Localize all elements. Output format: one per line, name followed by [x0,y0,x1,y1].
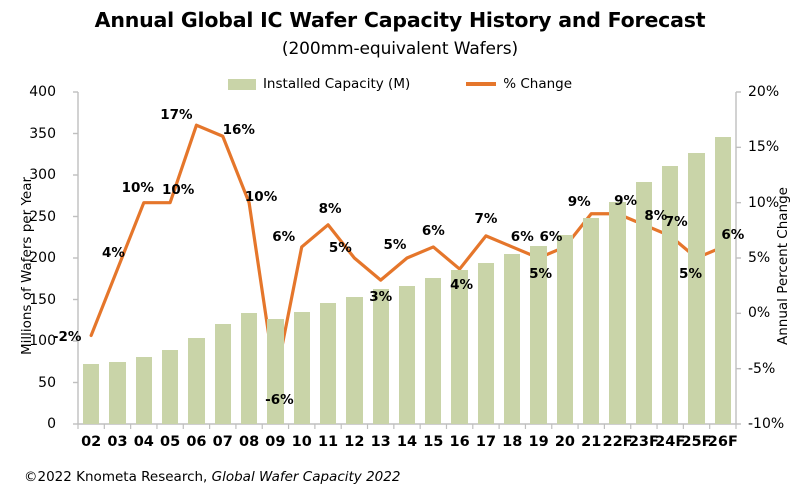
x-tick-13: 13 [371,434,391,450]
chart-subtitle: (200mm-equivalent Wafers) [0,39,800,59]
bar-22F [609,202,625,424]
y-tick-left-250: 250 [10,209,56,225]
x-tick-12: 12 [344,434,364,450]
bar-26F [715,137,731,424]
y-tick-left-200: 200 [10,250,56,266]
plot-area: -2%4%10%10%17%16%10%-6%6%8%5%3%5%6%4%7%6… [78,92,736,424]
bar-21 [583,218,599,424]
y-tick-left-0: 0 [10,416,56,432]
y-axis-right-ticks: -10%-5%0%5%10%15%20% [738,0,800,496]
bar-09 [267,319,283,424]
footer-publication: Global Wafer Capacity 2022 [212,469,401,485]
data-label-21: 9% [568,194,591,210]
x-tick-11: 11 [318,434,338,450]
bar-17 [478,263,494,424]
data-label-18: 6% [511,229,534,245]
footer-credit: ©2022 Knometa Research, Global Wafer Cap… [24,469,400,485]
y-tick-left-300: 300 [10,167,56,183]
data-label-20: 6% [539,229,562,245]
bar-06 [188,338,204,424]
x-tick-16: 16 [450,434,470,450]
bar-10 [294,312,310,424]
bar-16 [451,270,467,424]
data-label-12: 5% [329,240,352,256]
data-label-13: 3% [369,289,392,305]
data-label-02: -2% [53,329,82,345]
bar-14 [399,286,415,424]
bar-swatch-icon [228,79,256,90]
x-tick-15: 15 [423,434,443,450]
y-tick-left-50: 50 [10,375,56,391]
data-label-19: 5% [529,266,552,282]
footer-copyright: ©2022 Knometa Research, [24,469,212,485]
x-tick-05: 05 [160,434,180,450]
y-tick-right-5%: 5% [748,250,800,266]
x-tick-19: 19 [529,434,549,450]
data-label-06: 17% [160,107,192,123]
legend-label-percent-change: % Change [503,76,572,92]
x-tick-14: 14 [397,434,417,450]
y-tick-left-400: 400 [10,84,56,100]
bar-04 [136,357,152,424]
data-label-09: -6% [265,392,294,408]
y-tick-right-0%: 0% [748,305,800,321]
data-label-04: 10% [122,180,154,196]
y-tick-right--10%: -10% [748,416,800,432]
data-label-08: 10% [245,189,277,205]
x-tick-17: 17 [476,434,496,450]
chart-container: Annual Global IC Wafer Capacity History … [0,0,800,496]
bar-11 [320,303,336,424]
y-tick-left-350: 350 [10,126,56,142]
x-tick-20: 20 [555,434,575,450]
legend-label-installed-capacity: Installed Capacity (M) [263,76,410,92]
bar-15 [425,278,441,424]
y-tick-right-20%: 20% [748,84,800,100]
legend-item-installed-capacity: Installed Capacity (M) [228,76,410,92]
data-label-10: 6% [272,229,295,245]
bar-03 [109,362,125,424]
bar-12 [346,297,362,424]
data-label-14: 5% [384,237,407,253]
y-tick-right-15%: 15% [748,139,800,155]
data-label-15: 6% [422,223,445,239]
data-label-16: 4% [450,277,473,293]
legend-item-percent-change: % Change [466,76,572,92]
y-axis-left-ticks: 050100150200250300350400 [0,0,68,496]
data-label-24F: 7% [665,214,688,230]
y-tick-right--5%: -5% [748,361,800,377]
y-tick-left-150: 150 [10,292,56,308]
x-tick-09: 09 [265,434,285,450]
bar-20 [557,235,573,424]
data-label-25F: 5% [679,266,702,282]
bar-13 [373,289,389,424]
x-tick-21: 21 [581,434,601,450]
bar-02 [83,364,99,424]
data-label-11: 8% [319,201,342,217]
data-label-07: 16% [223,122,255,138]
data-label-05: 10% [162,182,194,198]
x-tick-03: 03 [107,434,127,450]
bar-18 [504,254,520,424]
chart-title: Annual Global IC Wafer Capacity History … [0,8,800,32]
data-label-22F: 9% [614,193,637,209]
x-tick-08: 08 [239,434,259,450]
bar-25F [688,153,704,424]
x-tick-07: 07 [213,434,233,450]
bar-24F [662,166,678,424]
data-label-03: 4% [102,245,125,261]
x-tick-26F: 26F [708,434,738,450]
chart-legend: Installed Capacity (M) % Change [0,76,800,92]
data-label-26F: 6% [721,227,744,243]
x-tick-18: 18 [502,434,522,450]
bar-08 [241,313,257,424]
x-tick-02: 02 [81,434,101,450]
line-swatch-icon [466,82,496,86]
x-tick-04: 04 [134,434,154,450]
x-tick-10: 10 [292,434,312,450]
data-label-17: 7% [474,211,497,227]
x-tick-06: 06 [186,434,206,450]
y-tick-right-10%: 10% [748,195,800,211]
bar-07 [215,324,231,424]
y-tick-left-100: 100 [10,333,56,349]
bar-05 [162,350,178,424]
